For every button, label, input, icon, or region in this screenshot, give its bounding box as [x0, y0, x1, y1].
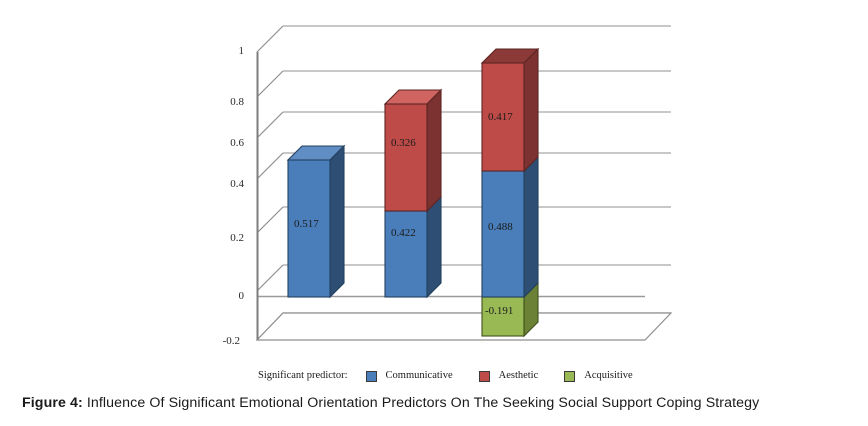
figure-caption-label: Figure 4:: [22, 395, 83, 411]
plot-3d-scene: [0, 0, 868, 388]
bar-label-3-acquisitive: -0.191: [485, 306, 513, 317]
bar-group-3: [482, 49, 538, 336]
bar-label-3-aesthetic: 0.417: [488, 112, 513, 123]
legend-label-aesthetic: Aesthetic: [499, 370, 539, 382]
figure-caption-text: Influence Of Significant Emotional Orien…: [87, 395, 759, 411]
figure-panel: 1 0.8 0.6 0.4 0.2 0 -0.2: [0, 0, 868, 426]
side-wall-depth-edges: [257, 26, 283, 340]
bar-label-2-aesthetic: 0.326: [391, 138, 416, 149]
bar-group-2: [385, 90, 441, 297]
bar-2-segment-aesthetic: [385, 90, 441, 211]
bar-label-3-communicative: 0.488: [488, 222, 513, 233]
legend-label-communicative: Communicative: [386, 370, 453, 382]
plot-floor: [257, 313, 671, 340]
legend-swatch-acquisitive-icon: [564, 371, 575, 382]
figure-caption: Figure 4: Influence Of Significant Emoti…: [22, 394, 852, 412]
chart-area: 1 0.8 0.6 0.4 0.2 0 -0.2: [0, 0, 868, 388]
chart-legend: Significant predictor: Communicative Aes…: [258, 366, 659, 386]
legend-label-acquisitive: Acquisitive: [584, 370, 632, 382]
legend-swatch-aesthetic-icon: [479, 371, 490, 382]
bar-label-1-communicative: 0.517: [294, 219, 319, 230]
legend-title: Significant predictor:: [258, 370, 348, 382]
legend-entry-acquisitive[interactable]: Acquisitive: [564, 370, 632, 382]
legend-entry-communicative[interactable]: Communicative: [366, 370, 453, 382]
legend-swatch-communicative-icon: [366, 371, 377, 382]
bar-label-2-communicative: 0.422: [391, 228, 416, 239]
legend-entry-aesthetic[interactable]: Aesthetic: [479, 370, 539, 382]
bar-3-segment-aesthetic: [482, 49, 538, 171]
bar-2-segment-communicative: [385, 197, 441, 297]
